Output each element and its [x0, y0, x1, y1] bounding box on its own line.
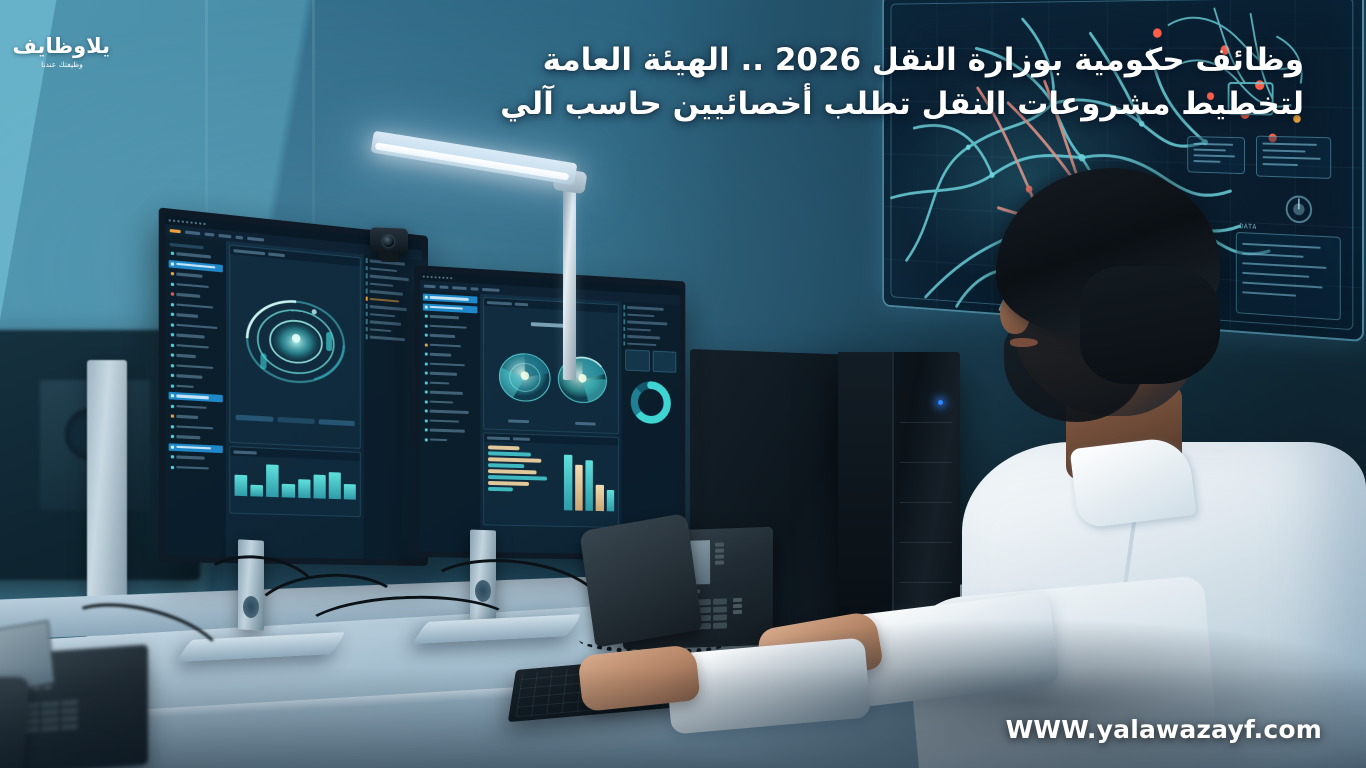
right-main-content [480, 294, 621, 554]
webcam [370, 227, 408, 254]
phone-navigation-keys[interactable] [733, 598, 742, 614]
sidebar-item[interactable] [169, 453, 223, 463]
sidebar-item-active[interactable] [423, 293, 478, 303]
dual-3d-pie-charts [484, 328, 618, 424]
shirt-collar [1070, 435, 1197, 529]
sidebar-item[interactable] [169, 290, 223, 302]
webcam-clip [379, 253, 399, 263]
list-item[interactable] [623, 305, 678, 312]
lamp-pole [563, 180, 576, 380]
sidebar-item[interactable] [423, 350, 478, 359]
left-monitor-screen[interactable] [165, 215, 422, 560]
horizontal-bar-chart [484, 441, 560, 516]
sidebar-item-active[interactable] [169, 443, 223, 453]
holographic-radial-gauge [230, 254, 360, 421]
right-sidebar-nav[interactable] [420, 290, 480, 552]
sidebar-item[interactable] [423, 360, 478, 369]
phone-handset[interactable] [579, 513, 702, 648]
sidebar-item[interactable] [423, 417, 478, 426]
phone-keypad[interactable] [22, 699, 78, 733]
right-donut-chart [623, 374, 678, 430]
sidebar-item-active[interactable] [423, 303, 478, 313]
sidebar-item[interactable] [423, 322, 478, 332]
sidebar-item[interactable] [169, 463, 223, 473]
sidebar-item[interactable] [169, 361, 223, 372]
radial-gauge-card [229, 244, 361, 448]
headline-line-2: لتخطيط مشروعات النقل تطلب أخصائيين حاسب … [396, 82, 1304, 126]
sidebar-item[interactable] [423, 369, 478, 378]
left-bar-chart [230, 456, 360, 506]
list-item[interactable] [623, 327, 678, 334]
sidebar-item[interactable] [423, 388, 478, 397]
brand-logo[interactable]: يلاوظايف وظيفتك عندنا [14, 36, 110, 90]
sidebar-item[interactable] [169, 402, 223, 412]
headline-block: وظائف حكومية بوزارة النقل 2026 .. الهيئة… [396, 38, 1304, 126]
logo-tagline: وظيفتك عندنا [14, 60, 110, 69]
sidebar-item[interactable] [423, 436, 478, 445]
banner-canvas: DATA [0, 0, 1366, 768]
sidebar-item[interactable] [423, 379, 478, 388]
left-main-content [226, 241, 364, 559]
sidebar-item[interactable] [169, 341, 223, 352]
dual-donut-card [483, 297, 619, 434]
sidebar-item[interactable] [169, 331, 223, 342]
headline-line-1: وظائف حكومية بوزارة النقل 2026 .. الهيئة… [396, 38, 1304, 82]
sidebar-item[interactable] [169, 433, 223, 443]
right-monitor-screen[interactable] [420, 271, 680, 555]
right-charts-card [483, 432, 619, 528]
pc-tower-front-panel [838, 352, 894, 652]
sidebar-item[interactable] [169, 412, 223, 422]
sidebar-item[interactable] [423, 398, 478, 407]
list-item[interactable] [623, 312, 678, 319]
person-lips [1010, 338, 1038, 347]
thumb-tile[interactable] [625, 349, 649, 371]
vertical-bar-chart [561, 444, 618, 517]
list-item[interactable] [623, 341, 678, 348]
left-barchart-card [229, 446, 361, 517]
phone-softkeys[interactable] [715, 542, 724, 564]
sidebar-item[interactable] [169, 371, 223, 382]
list-item[interactable] [366, 334, 421, 343]
website-watermark[interactable]: WWW.yalawazayf.com [1006, 715, 1322, 744]
sidebar-item[interactable] [423, 341, 478, 351]
desk-phone-left[interactable] [0, 614, 212, 768]
list-item[interactable] [623, 319, 678, 326]
person-hair-side [1080, 266, 1220, 384]
sidebar-item[interactable] [423, 312, 478, 322]
sidebar-item-active[interactable] [169, 392, 223, 403]
sidebar-item[interactable] [169, 310, 223, 322]
logo-wordmark: يلاوظايف [14, 36, 110, 57]
sidebar-item[interactable] [169, 422, 223, 432]
sidebar-item[interactable] [423, 331, 478, 341]
sidebar-item[interactable] [169, 382, 223, 393]
sidebar-item[interactable] [169, 351, 223, 362]
sidebar-item[interactable] [423, 407, 478, 416]
camera-lens-icon [383, 236, 394, 247]
sidebar-item[interactable] [423, 426, 478, 435]
list-item[interactable] [623, 334, 678, 341]
thumb-tile[interactable] [652, 351, 676, 373]
left-sidebar-nav[interactable] [165, 235, 226, 557]
